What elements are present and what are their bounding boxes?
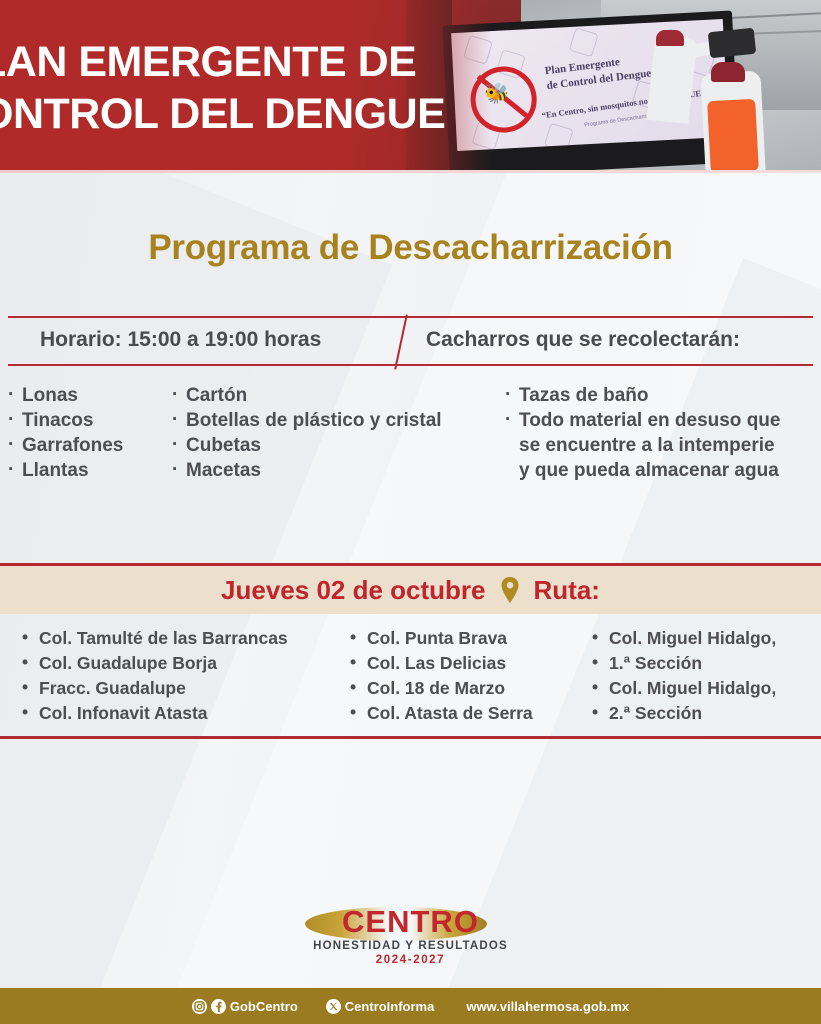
schedule-bar: Horario: 15:00 a 19:00 horas Cacharros q… (8, 316, 813, 366)
date-bar: Jueves 02 de octubre Ruta: (0, 566, 821, 614)
routes-column-1: Col. Tamulté de las Barrancas Col. Guada… (22, 626, 288, 726)
instagram-icon[interactable] (192, 999, 207, 1014)
header-title-line-1: LAN EMERGENTE DE (0, 36, 540, 88)
facebook-icon[interactable] (211, 999, 226, 1014)
footer-website[interactable]: www.villahermosa.gob.mx (466, 999, 629, 1014)
routes-bottom-line (0, 736, 821, 739)
list-item: Col. 18 de Marzo (350, 676, 533, 701)
route-label: Ruta: (534, 575, 600, 606)
header-banner: 🐝 Plan Emergente de Control del Dengue “… (0, 0, 821, 172)
list-item: 1.ª Sección (592, 651, 776, 676)
social-handle-2[interactable]: CentroInforma (345, 999, 435, 1014)
list-item: Col. Guadalupe Borja (22, 651, 288, 676)
photo-worker-2-vest (707, 99, 759, 172)
list-item: Macetas (172, 458, 442, 483)
list-item: Lonas (8, 383, 123, 408)
list-item: Cartón (172, 383, 442, 408)
map-pin-icon (500, 576, 520, 604)
logo-years: 2024-2027 (313, 954, 508, 966)
list-item: Col. Miguel Hidalgo, (592, 676, 776, 701)
routes-column-3: Col. Miguel Hidalgo, 1.ª Sección Col. Mi… (592, 626, 776, 726)
social-group-1: GobCentro (192, 999, 298, 1014)
schedule-bar-bottom-line (8, 364, 813, 366)
header-title-line-2: ONTROL DEL DENGUE (0, 88, 540, 140)
list-item: Col. Infonavit Atasta (22, 701, 288, 726)
social-group-2: CentroInforma (326, 999, 435, 1014)
list-item: Tazas de baño (505, 383, 821, 408)
route-date: Jueves 02 de octubre (221, 575, 485, 606)
photo-discarded-item (708, 28, 756, 59)
list-item: Col. Punta Brava (350, 626, 533, 651)
cacharros-column-2: Cartón Botellas de plástico y cristal Cu… (172, 383, 442, 483)
social-handle-1[interactable]: GobCentro (230, 999, 298, 1014)
list-item: Botellas de plástico y cristal (172, 408, 442, 433)
header-title: LAN EMERGENTE DE ONTROL DEL DENGUE (0, 36, 540, 140)
routes-section: Col. Tamulté de las Barrancas Col. Guada… (0, 626, 821, 730)
centro-logo: CENTRO HONESTIDAD Y RESULTADOS 2024-2027 (0, 905, 821, 968)
cacharros-column-1: Lonas Tinacos Garrafones Llantas (8, 383, 123, 483)
list-item: Col. Miguel Hidalgo, (592, 626, 776, 651)
photo-worker-2-cap (711, 62, 745, 82)
list-item: Col. Atasta de Serra (350, 701, 533, 726)
footer-bar: GobCentro CentroInforma www.villahermosa… (0, 988, 821, 1024)
page-title: Programa de Descacharrización (0, 228, 821, 268)
list-item: Garrafones (8, 433, 123, 458)
photo-worker-1-cap (656, 30, 684, 46)
list-item-line: se encuentre a la intemperie (519, 433, 821, 458)
logo-tagline: HONESTIDAD Y RESULTADOS (313, 940, 508, 952)
schedule-bar-top-line (8, 316, 813, 318)
cacharros-column-3: Tazas de baño Todo material en desuso qu… (505, 383, 821, 483)
list-item-line: y que pueda almacenar agua (519, 458, 821, 483)
poster-page: 🐝 Plan Emergente de Control del Dengue “… (0, 0, 821, 1024)
list-item: Col. Tamulté de las Barrancas (22, 626, 288, 651)
list-item: Fracc. Guadalupe (22, 676, 288, 701)
list-item: Cubetas (172, 433, 442, 458)
x-twitter-icon[interactable] (326, 999, 341, 1014)
list-item: Col. Las Delicias (350, 651, 533, 676)
collect-label: Cacharros que se recolectarán: (426, 328, 740, 352)
logo-name: CENTRO (313, 905, 508, 939)
list-item-line: Todo material en desuso que (519, 408, 821, 433)
list-item: 2.ª Sección (592, 701, 776, 726)
schedule-bar-diagonal-divider (394, 314, 408, 369)
list-item: Todo material en desuso que se encuentre… (505, 408, 821, 483)
routes-column-2: Col. Punta Brava Col. Las Delicias Col. … (350, 626, 533, 726)
header-bottom-divider (0, 170, 821, 173)
list-item: Llantas (8, 458, 123, 483)
cacharros-section: Lonas Tinacos Garrafones Llantas Cartón … (0, 383, 821, 503)
list-item: Tinacos (8, 408, 123, 433)
schedule-label: Horario: 15:00 a 19:00 horas (40, 328, 321, 352)
